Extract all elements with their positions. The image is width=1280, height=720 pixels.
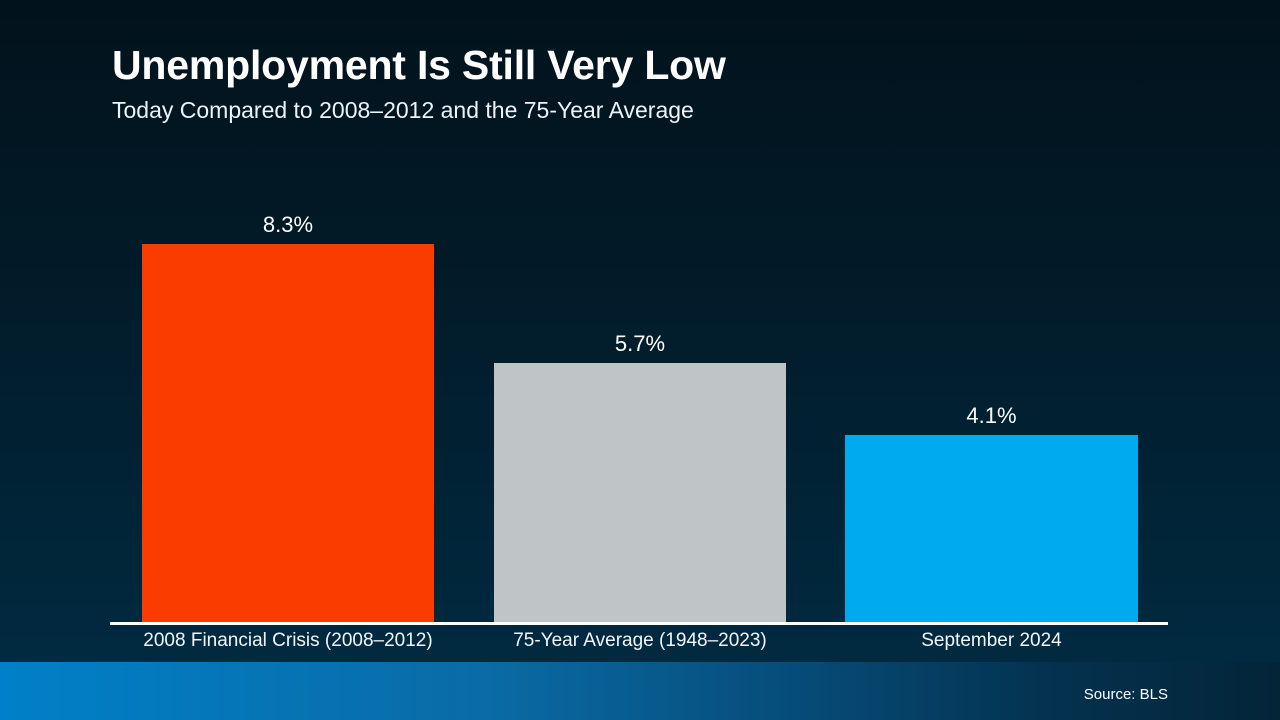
footer-bar: Source: BLS — [0, 662, 1280, 720]
bar-category-current: September 2024 — [805, 630, 1178, 652]
source-note: Source: BLS — [1084, 686, 1168, 703]
bar-average — [494, 363, 786, 623]
bar-group-current: 4.1% September 2024 — [845, 435, 1138, 623]
bar-group-average: 5.7% 75-Year Average (1948–2023) — [494, 363, 786, 623]
bar-value-crisis: 8.3% — [142, 212, 434, 238]
bar-category-crisis: 2008 Financial Crisis (2008–2012) — [102, 630, 474, 652]
bar-chart: 8.3% 2008 Financial Crisis (2008–2012) 5… — [0, 0, 1280, 720]
slide-canvas: Unemployment Is Still Very Low Today Com… — [0, 0, 1280, 720]
bar-value-current: 4.1% — [845, 403, 1138, 429]
bar-category-average: 75-Year Average (1948–2023) — [454, 630, 826, 652]
bar-value-average: 5.7% — [494, 331, 786, 357]
x-axis-baseline — [110, 622, 1168, 625]
bar-crisis — [142, 244, 434, 623]
bar-group-crisis: 8.3% 2008 Financial Crisis (2008–2012) — [142, 244, 434, 623]
bar-current — [845, 435, 1138, 623]
